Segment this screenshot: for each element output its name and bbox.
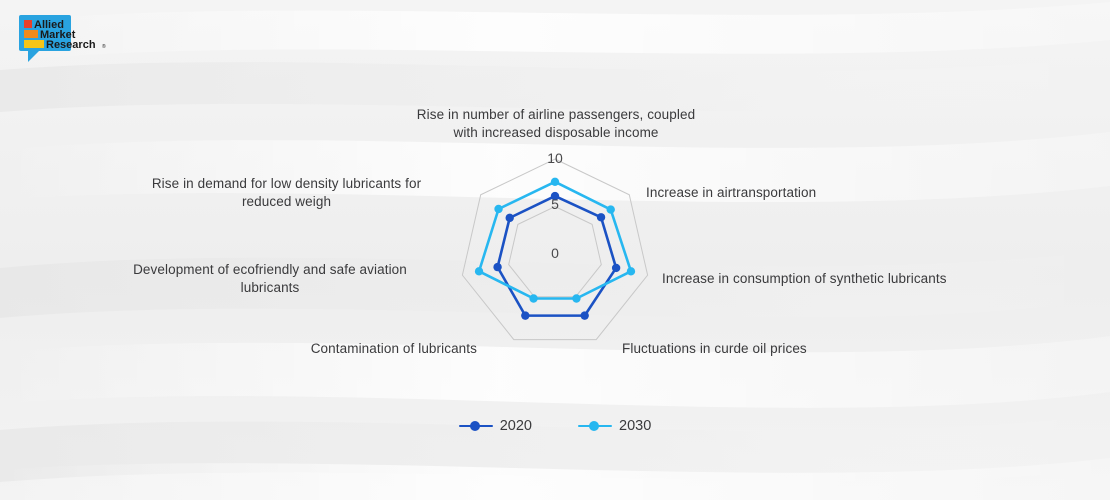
data-point-2020-1[interactable] <box>597 213 605 221</box>
legend-label-2030: 2030 <box>619 418 651 434</box>
data-point-2030-5[interactable] <box>475 267 483 275</box>
legend-item-2020[interactable]: 2020 <box>459 418 532 434</box>
tick-label-0: 0 <box>535 245 575 261</box>
legend-swatch-2030 <box>578 420 612 432</box>
tick-label-5: 5 <box>535 196 575 212</box>
axis-label-3: Fluctuations in curde oil prices <box>622 340 922 358</box>
tick-label-10: 10 <box>535 150 575 166</box>
axis-label-5: Development of ecofriendly and safe avia… <box>100 261 440 297</box>
data-point-2020-5[interactable] <box>493 263 501 271</box>
data-point-2030-0[interactable] <box>551 178 559 186</box>
axis-label-0: Rise in number of airline passengers, co… <box>370 106 742 142</box>
legend-swatch-2020 <box>459 420 493 432</box>
data-point-2030-2[interactable] <box>627 267 635 275</box>
axis-label-1: Increase in airtransportation <box>646 184 906 202</box>
data-point-2020-2[interactable] <box>612 264 620 272</box>
axis-label-4: Contamination of lubricants <box>200 340 477 358</box>
chart-page: Allied Market Research ® 10 5 0 Rise in … <box>0 0 1110 500</box>
data-point-2030-4[interactable] <box>529 294 537 302</box>
data-point-2030-3[interactable] <box>572 294 580 302</box>
data-point-2030-1[interactable] <box>607 205 615 213</box>
data-point-2030-6[interactable] <box>494 205 502 213</box>
axis-label-6: Rise in demand for low density lubricant… <box>120 175 453 211</box>
legend-item-2030[interactable]: 2030 <box>578 418 651 434</box>
data-point-2020-4[interactable] <box>521 311 529 319</box>
data-point-2020-3[interactable] <box>580 311 588 319</box>
chart-legend: 2020 2030 <box>0 418 1110 434</box>
legend-label-2020: 2020 <box>500 418 532 434</box>
data-point-2020-6[interactable] <box>505 214 513 222</box>
axis-label-2: Increase in consumption of synthetic lub… <box>662 270 1022 288</box>
